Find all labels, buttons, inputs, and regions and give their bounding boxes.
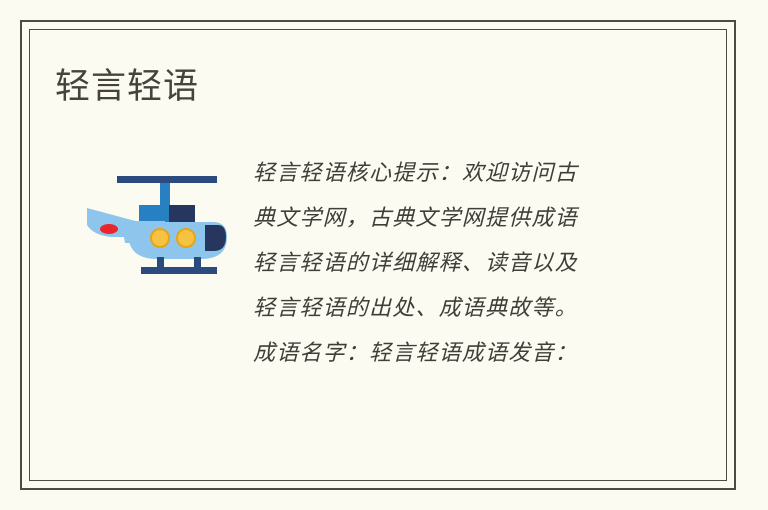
article-line: 轻言轻语的详细解释、读音以及 <box>253 241 673 286</box>
page-root: 轻言轻语 <box>0 0 768 510</box>
article-line: 轻言轻语核心提示：欢迎访问古 <box>253 151 673 196</box>
article-line: 轻言轻语的出处、成语典故等。 <box>253 286 673 331</box>
article-text: 轻言轻语核心提示：欢迎访问古 典文学网，古典文学网提供成语 轻言轻语的详细解释、… <box>253 151 673 376</box>
article-body: 轻言轻语核心提示：欢迎访问古 典文学网，古典文学网提供成语 轻言轻语的详细解释、… <box>55 151 705 451</box>
page-title: 轻言轻语 <box>55 67 199 107</box>
helicopter-illustration <box>81 163 241 275</box>
article-line: 成语名字：轻言轻语成语发音： <box>253 331 673 376</box>
content-area: 轻言轻语 <box>29 29 727 481</box>
article-line: 典文学网，古典文学网提供成语 <box>253 196 673 241</box>
